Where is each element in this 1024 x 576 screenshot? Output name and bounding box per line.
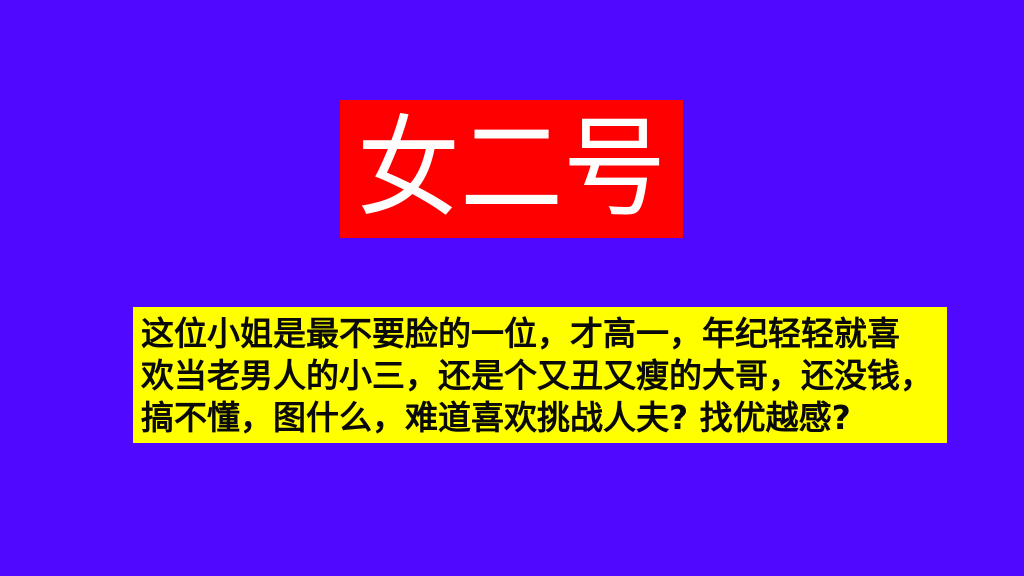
caption-line: 这位小姐是最不要脸的一位，才高一，年纪轻轻就喜 xyxy=(141,313,943,355)
title-banner: 女二号 xyxy=(340,100,683,238)
slide-canvas: 女二号 这位小姐是最不要脸的一位，才高一，年纪轻轻就喜 欢当老男人的小三，还是个… xyxy=(0,0,1024,576)
caption-line: 欢当老男人的小三，还是个又丑又瘦的大哥，还没钱， xyxy=(141,355,943,397)
caption-line: 搞不懂，图什么，难道喜欢挑战人夫? 找优越感? xyxy=(141,397,943,439)
caption-box: 这位小姐是最不要脸的一位，才高一，年纪轻轻就喜 欢当老男人的小三，还是个又丑又瘦… xyxy=(133,307,947,443)
title-text: 女二号 xyxy=(357,114,666,223)
